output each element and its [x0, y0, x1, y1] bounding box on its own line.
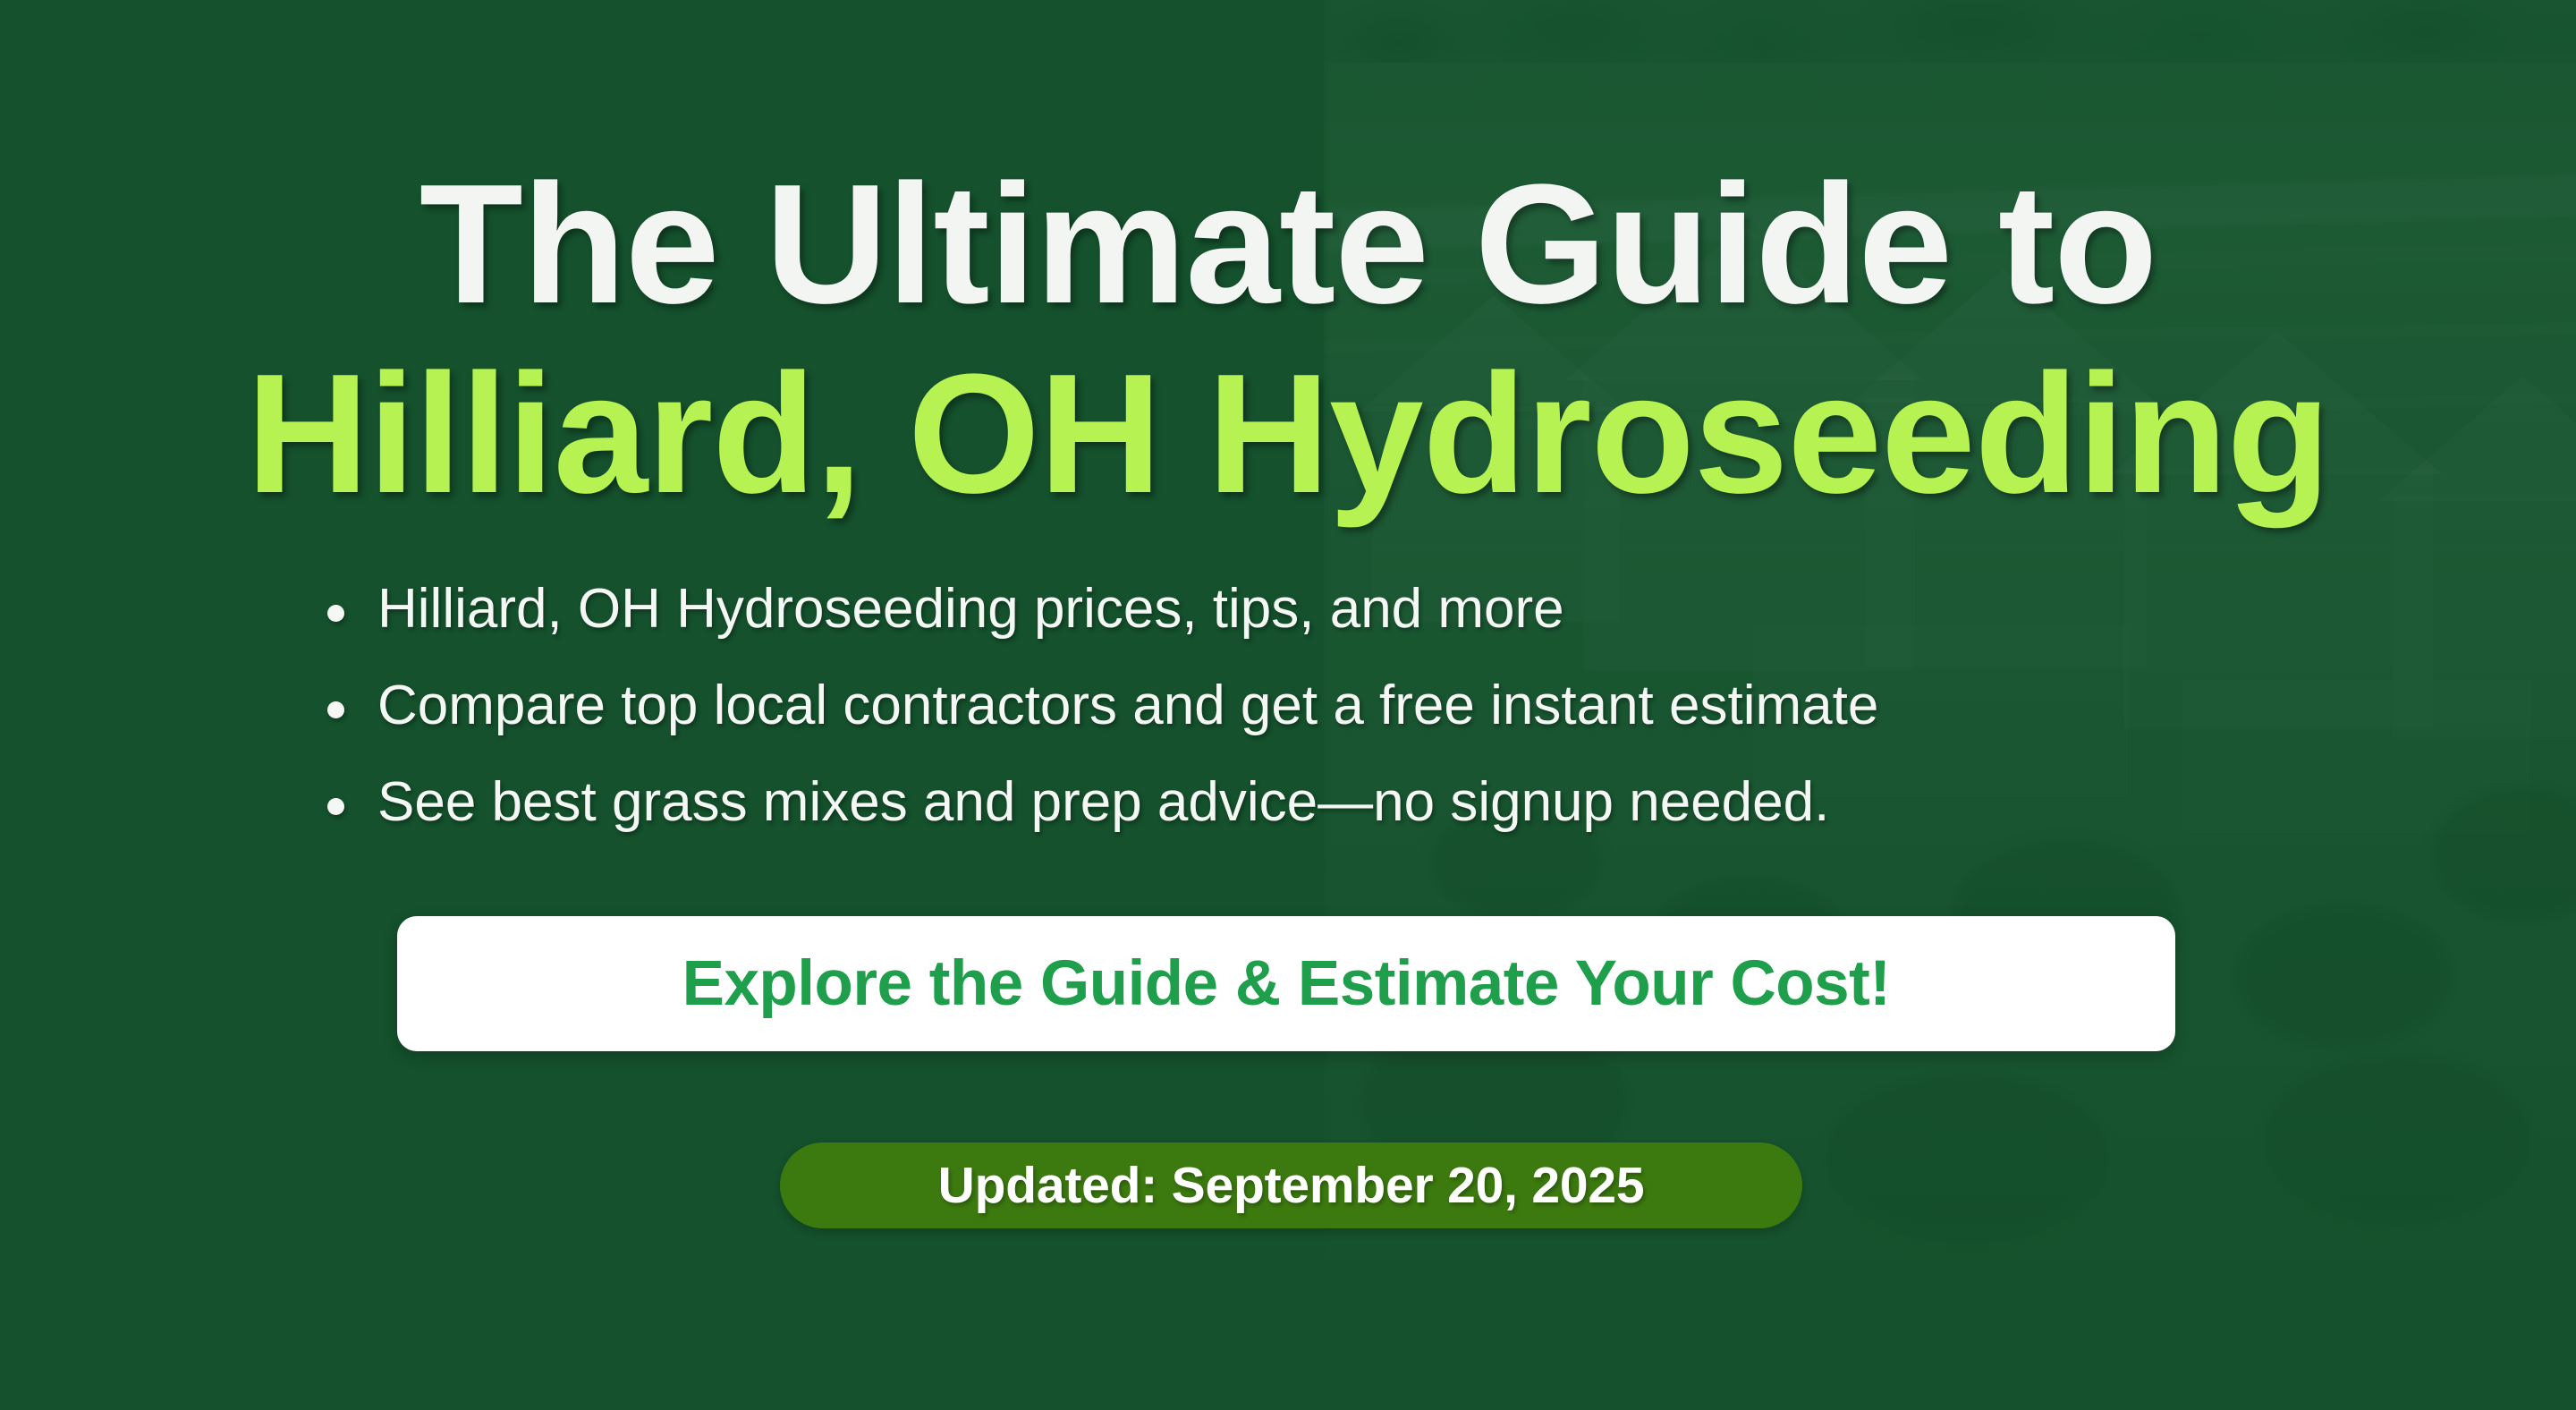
list-item: See best grass mixes and prep advice—no …	[322, 775, 1878, 830]
cta-button-label: Explore the Guide & Estimate Your Cost!	[682, 947, 1891, 1020]
feature-bullet-list: Hilliard, OH Hydroseeding prices, tips, …	[322, 582, 1878, 871]
page-title: The Ultimate Guide to Hilliard, OH Hydro…	[0, 159, 2576, 519]
list-item: Hilliard, OH Hydroseeding prices, tips, …	[322, 582, 1878, 637]
headline-line-2: Hilliard, OH Hydroseeding	[0, 349, 2576, 519]
explore-guide-cta-button[interactable]: Explore the Guide & Estimate Your Cost!	[397, 916, 2175, 1051]
hero-content: The Ultimate Guide to Hilliard, OH Hydro…	[0, 0, 2576, 1410]
list-item: Compare top local contractors and get a …	[322, 678, 1878, 734]
updated-date-badge: Updated: September 20, 2025	[780, 1142, 1802, 1228]
hero-banner: The Ultimate Guide to Hilliard, OH Hydro…	[0, 0, 2576, 1410]
updated-date-label: Updated: September 20, 2025	[938, 1156, 1645, 1215]
headline-line-1: The Ultimate Guide to	[0, 159, 2576, 329]
